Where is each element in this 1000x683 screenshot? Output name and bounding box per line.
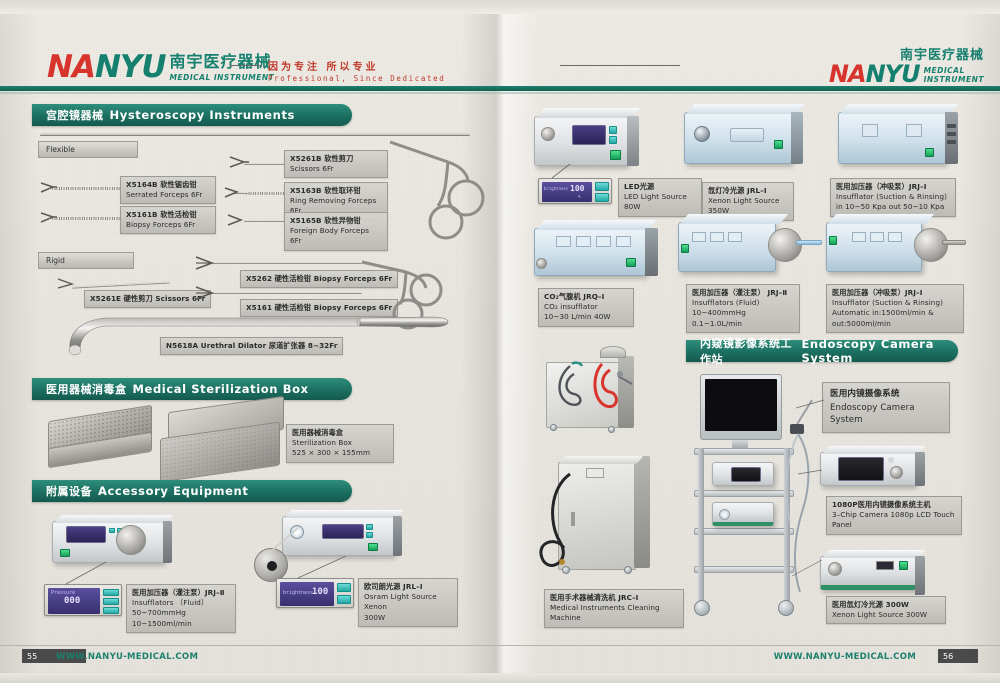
device-insufflator-fluid2-display2 bbox=[710, 232, 724, 242]
device-xenon-detail-port bbox=[828, 562, 842, 576]
footer-rule bbox=[0, 645, 1000, 646]
device-insufflator-fluid2-power-button bbox=[681, 244, 689, 253]
logo-cn-name: 南宇医疗器械 bbox=[170, 48, 275, 72]
caption-x5261e-label: X5261E 硬性剪刀 Scissors 6Fr bbox=[90, 294, 205, 304]
caption-x5161b: X5161B 软性活检钳 Biopsy Forceps 6Fr bbox=[120, 206, 216, 234]
lcd-detail-insufflator-glass: Pressure 000 bbox=[48, 588, 100, 614]
device-insufflator-suction-auto-pump-head bbox=[914, 228, 948, 262]
tower-light-unit-port bbox=[719, 509, 730, 520]
device-insufflator-suction-display1 bbox=[862, 124, 878, 137]
section-title-sterilization-cn: 医用器械消毒盒 bbox=[46, 381, 127, 397]
device-insufflator-suction-top bbox=[840, 104, 958, 114]
device-insufflator-fluid2-body bbox=[678, 222, 776, 272]
caption-xenon-light-cn: 氙灯冷光源 JRL–Ⅰ bbox=[708, 186, 788, 196]
caption-x5161b-code: X5161B bbox=[126, 210, 158, 219]
caption-led-light-spec: 80W bbox=[624, 202, 696, 212]
caption-sterilization-box-cn: 医用器械消毒盒 bbox=[292, 428, 388, 438]
caption-x5161b-en: Biopsy Forceps 6Fr bbox=[126, 220, 210, 230]
caption-ccu-en: 3–Chip Camera 1080p LCD Touch Panel bbox=[832, 510, 956, 530]
device-insufflator-suction-power-button bbox=[925, 148, 934, 157]
caption-ccu-cn: 1080P医用内镜摄像系统主机 bbox=[832, 500, 956, 510]
caption-co2-insufflator-spec: 10~30 L/min 40W bbox=[544, 312, 628, 322]
device-led-top bbox=[536, 108, 640, 118]
caption-x5165b-cn: 软性异物钳 bbox=[324, 216, 360, 225]
caption-insufflator-suction-auto-en: Insufflator (Suction & Rinsing) bbox=[832, 298, 958, 308]
header-divider-bar bbox=[0, 86, 1000, 91]
instrument-x5161-shaft bbox=[212, 292, 362, 294]
device-insufflator-fluid2-display3 bbox=[728, 232, 742, 242]
lcd-detail-osram-value: 100 bbox=[312, 587, 328, 597]
caption-cleaning-machine: 医用手术器械清洗机 JRC–Ⅰ Medical Instruments Clea… bbox=[544, 589, 684, 628]
footer-url-right: WWW.NANYU-MEDICAL.COM bbox=[774, 652, 916, 662]
section-title-hysteroscopy-cn: 宫腔镜器械 bbox=[46, 107, 104, 123]
caption-osram-light-cn: 欧司朗光源 JRL–Ⅰ bbox=[364, 582, 452, 592]
device-led-btn2 bbox=[609, 136, 617, 144]
leader-line-light-guide bbox=[268, 524, 304, 554]
device-xenon-power-button bbox=[774, 140, 783, 149]
device-cleaning-unit-basin bbox=[600, 346, 626, 358]
logo-right-wordmark: NANYU bbox=[829, 62, 920, 86]
device-ccu-detail-top bbox=[823, 446, 926, 454]
page-number-right: 56 bbox=[938, 649, 978, 663]
device-led-power-button bbox=[610, 150, 621, 160]
caption-insufflator-suction-spec: in 10~50 Kpa out 50~10 Kpa bbox=[836, 202, 950, 212]
caption-insufflator-suction-auto: 医用加压器（冲吸泵）JRJ–Ⅰ Insufflator (Suction & R… bbox=[826, 284, 964, 333]
caption-sterilization-box-size: 525 × 300 × 155mm bbox=[292, 448, 388, 458]
caption-x5163b-cn: 软性取环钳 bbox=[324, 186, 360, 195]
caption-insufflator-fluid: 医用加压器（灌注泵）JRJ–Ⅱ Insufflators （Fluid） 50~… bbox=[126, 584, 236, 633]
device-insufflator-fluid-power-button bbox=[60, 549, 70, 557]
lcd-detail-insufflator: Pressure 000 bbox=[44, 584, 122, 616]
instrument-x5164b-coil bbox=[52, 187, 124, 190]
instrument-x5261e-jaw-icon bbox=[56, 277, 78, 291]
page-footer: 55 WWW.NANYU-MEDICAL.COM WWW.NANYU-MEDIC… bbox=[0, 637, 1000, 683]
instrument-x5262-shaft bbox=[212, 262, 362, 264]
device-osram-top bbox=[285, 510, 404, 518]
tower-monitor-stand bbox=[732, 440, 748, 448]
lcd-detail-insufflator-down-button[interactable] bbox=[103, 607, 119, 614]
device-insufflator-suction-display2 bbox=[906, 124, 922, 137]
caption-osram-light: 欧司朗光源 JRL–Ⅰ Osram Light Source Xenon 300… bbox=[358, 578, 458, 627]
caption-x5163b-code: X5163B bbox=[290, 186, 322, 195]
device-insufflator-fluid-side bbox=[163, 521, 172, 563]
device-osram-side bbox=[393, 516, 402, 556]
caption-insufflator-suction-auto-cn: 医用加压器（冲吸泵）JRJ–Ⅰ bbox=[832, 288, 958, 298]
leader-line-insufflator bbox=[60, 560, 110, 588]
slogan-rule-left bbox=[230, 65, 262, 66]
logo-wordmark: NANYU bbox=[47, 52, 166, 83]
device-light-guide-connector-center bbox=[267, 561, 277, 571]
caption-xenon-detail-en: Xenon Light Source 300W bbox=[832, 610, 940, 620]
leader-line-ccu bbox=[796, 466, 824, 478]
caption-insufflator-suction-cn: 医用加压器（冲吸泵）JRJ–Ⅰ bbox=[836, 182, 950, 192]
leader-line-led bbox=[548, 162, 574, 180]
device-xenon-top bbox=[686, 104, 804, 114]
tower-monitor-screen bbox=[705, 379, 777, 431]
section-title-hysteroscopy: 宫腔镜器械 Hysteroscopy Instruments bbox=[32, 104, 352, 126]
instrument-x5262-jaw-icon bbox=[194, 254, 218, 272]
caption-osram-light-spec: 300W bbox=[364, 613, 452, 623]
caption-led-light: LED光源 LED Light Source 80W bbox=[618, 178, 702, 217]
lcd-detail-led-glass: brightness 100 % bbox=[542, 182, 592, 202]
device-xenon-detail-display bbox=[876, 561, 894, 570]
caption-led-light-en: LED Light Source bbox=[624, 192, 696, 202]
lcd-detail-insufflator-up-button[interactable] bbox=[103, 589, 119, 596]
device-insufflator-suction-port2 bbox=[947, 132, 956, 136]
caption-sterilization-box: 医用器械消毒盒 Sterilization Box 525 × 300 × 15… bbox=[286, 424, 394, 463]
caption-x5165b: X5165B 软性异物钳 Foreign Body Forceps 6Fr bbox=[284, 212, 388, 251]
tower-caster-left bbox=[694, 600, 710, 616]
group-tag-flexible: Flexible bbox=[38, 141, 138, 158]
slogan: 因为专注 所以专业 Professional, Since Dedicated bbox=[268, 58, 568, 83]
device-insufflator-fluid2-pump-head bbox=[768, 228, 802, 262]
device-xenon-detail-top bbox=[823, 550, 926, 558]
caption-urethral-dilator: N5618A Urethral Dilator 尿道扩张器 8~32Fr bbox=[160, 337, 343, 355]
instrument-x5261e-shaft bbox=[72, 281, 170, 288]
lcd-detail-osram-down-button[interactable] bbox=[337, 595, 351, 604]
caption-x5164b: X5164B 软性锯齿钳 Serrated Forceps 6Fr bbox=[120, 176, 216, 204]
instrument-x5163b-jaw-icon bbox=[224, 186, 242, 199]
tower-post-left bbox=[698, 448, 704, 606]
device-insufflator-suction-auto-display2 bbox=[870, 232, 884, 242]
leader-line-xenon-detail bbox=[790, 552, 824, 580]
tower-ccu-unit bbox=[712, 462, 774, 486]
caption-sterilization-box-en: Sterilization Box bbox=[292, 438, 388, 448]
logo-right-sub1: MEDICAL bbox=[924, 66, 984, 75]
device-led-display bbox=[572, 125, 606, 145]
caption-insufflator-suction-en: Insufflator (Suction & Rinsing) bbox=[836, 192, 950, 202]
device-insufflator-suction-side bbox=[945, 112, 958, 164]
section-title-hysteroscopy-en: Hysteroscopy Instruments bbox=[110, 108, 296, 122]
caption-x5164b-code: X5164B bbox=[126, 180, 158, 189]
caption-insufflator-suction: 医用加压器（冲吸泵）JRJ–Ⅰ Insufflator (Suction & R… bbox=[830, 178, 956, 217]
caption-x5164b-cn: 软性锯齿钳 bbox=[160, 180, 196, 189]
logo-right: 南宇医疗器械 NANYU MEDICAL INSTRUMENT bbox=[829, 44, 984, 86]
device-ccu-detail-screen bbox=[838, 457, 884, 481]
caption-urethral-dilator-label: N5618A Urethral Dilator 尿道扩张器 8~32Fr bbox=[166, 341, 337, 351]
caption-insufflator-suction-auto-spec: Automatic in:1500ml/min & out:5000ml/min bbox=[832, 308, 958, 328]
device-xenon-side bbox=[791, 112, 803, 164]
caption-ccu: 1080P医用内镜摄像系统主机 3–Chip Camera 1080p LCD … bbox=[826, 496, 962, 535]
caption-cleaning-machine-cn: 医用手术器械清洗机 JRC–Ⅰ bbox=[550, 593, 678, 603]
section-title-accessory: 附属设备 Accessory Equipment bbox=[32, 480, 352, 502]
caption-led-light-cn: LED光源 bbox=[624, 182, 696, 192]
lcd-detail-osram-glass: brightness 100 bbox=[280, 582, 334, 606]
caption-xenon-detail: 医用氙灯冷光源 300W Xenon Light Source 300W bbox=[826, 596, 946, 624]
instrument-x5261b-jaw-icon bbox=[228, 154, 250, 170]
section-title-camera-en: Endoscopy Camera System bbox=[801, 337, 958, 365]
caption-insufflator-fluid-en: Insufflators （Fluid） bbox=[132, 598, 230, 608]
instrument-x5161-jaw-icon bbox=[194, 284, 218, 302]
device-xenon-light-port bbox=[694, 126, 710, 142]
caption-x5261b: X5261B 软性剪刀 Scissors 6Fr bbox=[284, 150, 388, 178]
device-co2-display3 bbox=[596, 236, 611, 247]
device-insufflator-suction-auto-body bbox=[826, 222, 922, 272]
device-insufflator-fluid2-top bbox=[680, 214, 788, 224]
caption-co2-insufflator-cn: CO₂气腹机 JRQ–Ⅰ bbox=[544, 292, 628, 302]
device-ccu-detail-led bbox=[888, 457, 894, 463]
caption-x5165b-en: Foreign Body Forceps 6Fr bbox=[290, 226, 382, 246]
footer-url-left: WWW.NANYU-MEDICAL.COM bbox=[56, 652, 198, 662]
page-top-edge bbox=[0, 0, 1000, 14]
device-osram-power-button bbox=[368, 543, 378, 551]
header-divider-thin bbox=[0, 92, 1000, 94]
lcd-detail-led-down-button[interactable] bbox=[595, 193, 609, 202]
device-co2-display1 bbox=[556, 236, 571, 247]
device-xenon-detail-side bbox=[915, 556, 925, 595]
device-insufflator-suction-auto-tube bbox=[942, 240, 966, 245]
caption-x5261b-cn: 软性剪刀 bbox=[324, 154, 353, 163]
lcd-detail-led-up-button[interactable] bbox=[595, 182, 609, 191]
tower-ccu-screen bbox=[731, 467, 761, 482]
device-insufflator-fluid2-tube bbox=[796, 240, 822, 245]
caption-xenon-light-en: Xenon Light Source bbox=[708, 196, 788, 206]
group-tag-rigid: Rigid bbox=[38, 252, 134, 269]
device-co2-top bbox=[536, 220, 656, 230]
logo-sub-en: MEDICAL INSTRUMENT bbox=[170, 73, 275, 82]
caption-cleaning-machine-en: Medical Instruments Cleaning Machine bbox=[550, 603, 678, 623]
section-title-camera-cn: 内窥镜影像系统工作站 bbox=[700, 335, 795, 367]
device-ccu-detail-side bbox=[915, 452, 925, 486]
device-insufflator-fluid-knob bbox=[116, 525, 146, 555]
page-header: NANYU 南宇医疗器械 MEDICAL INSTRUMENT 因为专注 所以专… bbox=[0, 14, 1000, 76]
device-insufflator-suction-auto-top bbox=[828, 214, 934, 224]
device-xenon-detail-power-button bbox=[899, 561, 908, 570]
device-insufflator-fluid-display bbox=[66, 526, 106, 543]
lcd-detail-led-value: 100 bbox=[570, 184, 584, 193]
device-insufflator-suction-port1 bbox=[947, 124, 956, 128]
caption-xenon-detail-cn: 医用氙灯冷光源 300W bbox=[832, 600, 940, 610]
device-ccu-detail-connector bbox=[890, 466, 903, 479]
device-insufflator-fluid2-display1 bbox=[692, 232, 706, 242]
lcd-detail-led-unit: % bbox=[578, 194, 580, 199]
caption-insufflator-fluid-cn: 医用加压器（灌注泵）JRJ–Ⅱ bbox=[132, 588, 230, 598]
caption-insufflator-fluid2: 医用加压器（灌注泵） JRJ–Ⅱ Insufflators (Fluid) 10… bbox=[686, 284, 800, 333]
caption-co2-insufflator-en: CO₂ insufflator bbox=[544, 302, 628, 312]
caption-insufflator-fluid2-cn: 医用加压器（灌注泵） JRJ–Ⅱ bbox=[692, 288, 794, 298]
section-title-sterilization: 医用器械消毒盒 Medical Sterilization Box bbox=[32, 378, 352, 400]
device-led-btn1 bbox=[609, 126, 617, 134]
lcd-detail-insufflator-value: 000 bbox=[64, 596, 80, 606]
lcd-detail-led-label: brightness bbox=[544, 186, 568, 191]
device-led-knob bbox=[541, 127, 555, 141]
device-co2-display4 bbox=[616, 236, 631, 247]
device-osram-btn2 bbox=[366, 532, 373, 538]
lcd-detail-osram: brightness 100 bbox=[276, 578, 354, 608]
device-cleaning-machine-hose-icon bbox=[534, 470, 594, 580]
device-cleaning-unit-top-caster1 bbox=[550, 424, 557, 431]
leader-line-osram bbox=[290, 554, 350, 580]
caption-insufflator-fluid2-spec: 10~400mmHg 0.1~1.0L/min bbox=[692, 308, 794, 328]
instrument-x5164b-jaw-icon bbox=[40, 181, 58, 194]
lcd-detail-led: brightness 100 % bbox=[538, 178, 612, 204]
lcd-detail-osram-label: brightness bbox=[283, 590, 313, 596]
device-co2-display2 bbox=[576, 236, 591, 247]
logo-right-sub2: INSTRUMENT bbox=[924, 75, 984, 84]
caption-x5261b-code: X5261B bbox=[290, 154, 322, 163]
lcd-detail-insufflator-mid-button[interactable] bbox=[103, 598, 119, 605]
device-cleaning-machine-top bbox=[558, 456, 643, 464]
device-osram-btn1 bbox=[366, 524, 373, 530]
section-title-camera: 内窥镜影像系统工作站 Endoscopy Camera System bbox=[686, 340, 958, 362]
tower-light-unit bbox=[712, 502, 774, 526]
caption-x5164b-en: Serrated Forceps 6Fr bbox=[126, 190, 210, 200]
caption-x5261b-en: Scissors 6Fr bbox=[290, 164, 382, 174]
device-cleaning-machine-caster2 bbox=[624, 566, 632, 574]
device-cleaning-unit-hoses-icon bbox=[548, 360, 638, 430]
device-cleaning-unit-top-caster2 bbox=[608, 426, 615, 433]
device-osram-display bbox=[322, 524, 364, 539]
caption-camera-system-en: Endoscopy Camera System bbox=[830, 402, 942, 426]
instrument-ring-handle-forceps-large bbox=[388, 136, 498, 246]
caption-camera-system: 医用内镜摄像系统 Endoscopy Camera System bbox=[822, 382, 950, 433]
slogan-cn: 因为专注 所以专业 bbox=[268, 58, 568, 73]
device-cleaning-machine-side bbox=[634, 456, 650, 568]
device-insufflator-suction-auto-display1 bbox=[852, 232, 866, 242]
tower-monitor bbox=[700, 374, 782, 440]
device-insufflator-fluid-btn1 bbox=[109, 528, 115, 533]
device-insufflator-fluid-top bbox=[55, 515, 174, 523]
instrument-x5161b-jaw-icon bbox=[40, 211, 58, 224]
section-title-sterilization-en: Medical Sterilization Box bbox=[133, 382, 309, 396]
device-co2-gas-port bbox=[536, 258, 547, 269]
instrument-x5165b-jaw-icon bbox=[226, 213, 246, 228]
caption-insufflator-fluid-spec: 50~700mmHg 10~1500ml/min bbox=[132, 608, 230, 628]
slogan-rule-right bbox=[560, 65, 680, 66]
caption-insufflator-fluid2-en: Insufflators (Fluid) bbox=[692, 298, 794, 308]
device-co2-side bbox=[645, 228, 658, 276]
section-title-accessory-en: Accessory Equipment bbox=[98, 484, 248, 498]
device-cleaning-machine-caster1 bbox=[562, 566, 570, 574]
device-insufflator-suction-auto-display3 bbox=[888, 232, 902, 242]
device-insufflator-suction-auto-power-button bbox=[829, 236, 837, 245]
section-title-accessory-cn: 附属设备 bbox=[46, 483, 92, 499]
caption-x5161b-cn: 软性活检钳 bbox=[160, 210, 196, 219]
catalog-page: NANYU 南宇医疗器械 MEDICAL INSTRUMENT 因为专注 所以专… bbox=[0, 0, 1000, 683]
caption-camera-system-cn: 医用内镜摄像系统 bbox=[830, 388, 942, 400]
caption-osram-light-en: Osram Light Source Xenon bbox=[364, 592, 452, 612]
group-tag-rigid-label: Rigid bbox=[46, 256, 65, 265]
lcd-detail-osram-up-button[interactable] bbox=[337, 583, 351, 592]
caption-co2-insufflator: CO₂气腹机 JRQ–Ⅰ CO₂ insufflator 10~30 L/min… bbox=[538, 288, 634, 327]
leader-line-camera-system bbox=[794, 398, 826, 410]
instrument-x5161b-coil bbox=[52, 217, 124, 220]
group-tag-flexible-label: Flexible bbox=[46, 145, 75, 154]
slogan-en: Professional, Since Dedicated bbox=[268, 74, 568, 83]
device-co2-power-button bbox=[626, 258, 636, 267]
caption-x5165b-code: X5165B bbox=[290, 216, 322, 225]
device-xenon-panel bbox=[730, 128, 764, 142]
device-led-side bbox=[627, 116, 639, 166]
device-insufflator-suction-port3 bbox=[947, 140, 956, 144]
